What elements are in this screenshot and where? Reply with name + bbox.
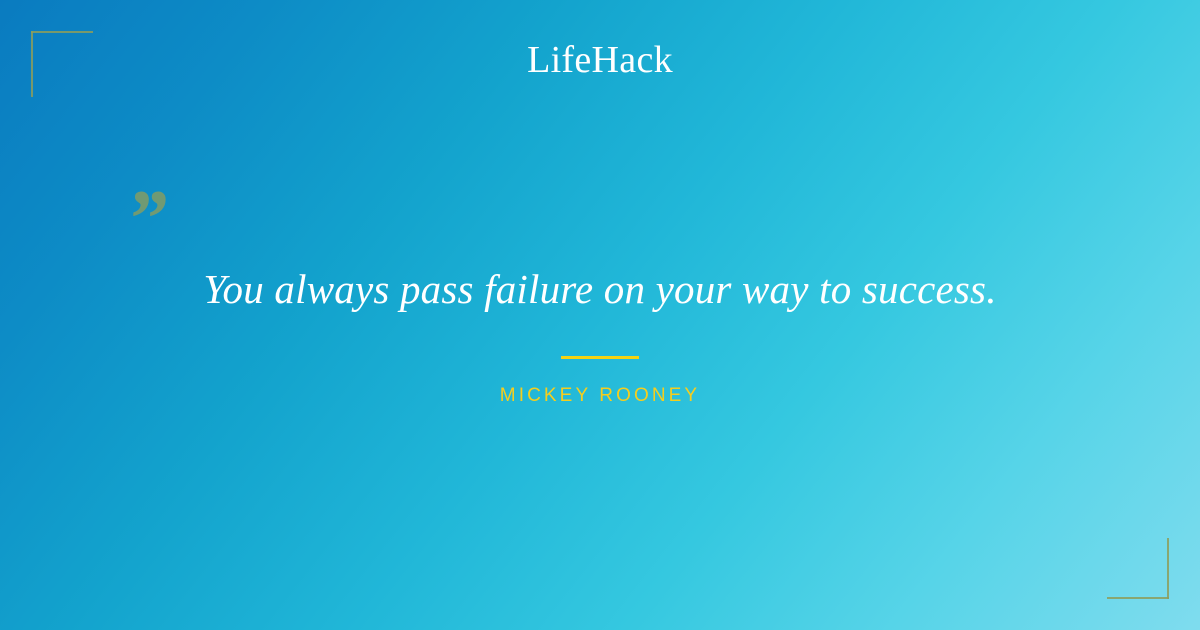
quote-block: You always pass failure on your way to s… [0,262,1200,408]
lifehack-logo: LifeHack [0,38,1200,82]
quote-card: LifeHack ” You always pass failure on yo… [0,0,1200,630]
bracket-horizontal-line [1107,597,1169,599]
divider-rule [561,356,639,359]
quote-author: MICKEY ROONEY [0,384,1200,408]
quote-text: You always pass failure on your way to s… [0,262,1200,316]
corner-bracket-bottom-right [1107,538,1169,599]
bracket-horizontal-line [31,31,93,33]
quotation-mark-icon: ” [126,178,167,260]
bracket-vertical-line [1167,538,1169,599]
